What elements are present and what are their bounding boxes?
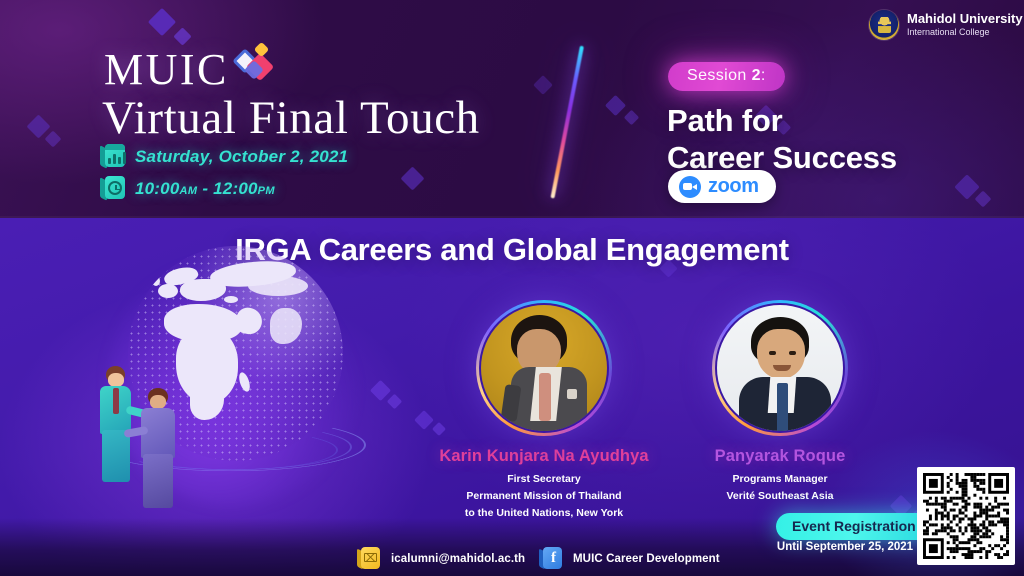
contact-facebook-label: MUIC Career Development bbox=[573, 553, 720, 565]
speaker-role: First Secretary Permanent Mission of Tha… bbox=[408, 471, 680, 522]
facebook-icon: f bbox=[539, 546, 563, 571]
speaker-portrait-avatar bbox=[476, 300, 612, 436]
avatar bbox=[481, 305, 607, 431]
session-colon: : bbox=[761, 67, 766, 84]
university-name: Mahidol University bbox=[907, 12, 1023, 26]
session-topic: Path for Career Success bbox=[667, 103, 897, 176]
email-icon bbox=[357, 546, 381, 571]
mahidol-logo: Mahidol University International College bbox=[869, 10, 1023, 40]
session-label: Session bbox=[687, 67, 747, 84]
clock-icon bbox=[100, 175, 126, 202]
event-poster: MUIC Virtual Final Touch Saturday, Octob… bbox=[0, 0, 1024, 576]
time-start: 10:00 bbox=[135, 179, 179, 198]
speaker-name: Karin Kunjara Na Ayudhya bbox=[408, 447, 680, 466]
page-title-program: Virtual Final Touch bbox=[102, 92, 480, 145]
event-time-row: 10:00AM - 12:00PM bbox=[100, 175, 275, 202]
event-date-row: Saturday, October 2, 2021 bbox=[100, 143, 348, 170]
page-title-muic: MUIC bbox=[104, 48, 229, 92]
contact-email-label: icalumni@mahidol.ac.th bbox=[391, 553, 525, 565]
session-topic-line-1: Path for bbox=[667, 103, 897, 140]
speaker-portrait-avatar bbox=[712, 300, 848, 436]
qr-code-icon[interactable] bbox=[917, 467, 1015, 565]
session-number: 2 bbox=[752, 67, 761, 84]
time-separator: - bbox=[202, 179, 208, 198]
event-date-text: Saturday, October 2, 2021 bbox=[135, 147, 348, 167]
speaker-role-line: Programs Manager bbox=[644, 471, 916, 488]
globe-handshake-illustration bbox=[80, 238, 380, 508]
time-end-suffix: PM bbox=[258, 185, 275, 197]
contact-facebook[interactable]: f MUIC Career Development bbox=[539, 546, 720, 571]
status-badge-session: Session 2: bbox=[668, 62, 785, 91]
contact-email[interactable]: icalumni@mahidol.ac.th bbox=[357, 546, 525, 571]
event-registration-button[interactable]: Event Registration bbox=[776, 513, 932, 540]
speaker-role-line: to the United Nations, New York bbox=[408, 505, 680, 522]
mahidol-seal-icon bbox=[869, 10, 899, 40]
time-start-suffix: AM bbox=[179, 185, 197, 197]
speaker-role-line: First Secretary bbox=[408, 471, 680, 488]
registration-deadline: Until September 25, 2021 bbox=[760, 541, 930, 553]
speaker-role: Programs Manager Verité Southeast Asia bbox=[644, 471, 916, 505]
speaker-card: Karin Kunjara Na Ayudhya First Secretary… bbox=[408, 300, 680, 522]
calendar-icon bbox=[100, 143, 126, 170]
figure-person-left bbox=[98, 366, 138, 486]
muic-diamond-logo-icon bbox=[236, 44, 282, 84]
speaker-card: Panyarak Roque Programs Manager Verité S… bbox=[644, 300, 916, 505]
speaker-name: Panyarak Roque bbox=[644, 447, 916, 466]
speaker-role-line: Verité Southeast Asia bbox=[644, 488, 916, 505]
platform-name: zoom bbox=[708, 175, 759, 198]
speaker-role-line: Permanent Mission of Thailand bbox=[408, 488, 680, 505]
zoom-camera-icon bbox=[679, 176, 701, 198]
platform-zoom-chip[interactable]: zoom bbox=[668, 170, 776, 203]
figure-person-right bbox=[138, 388, 182, 508]
event-time-text: 10:00AM - 12:00PM bbox=[135, 179, 275, 199]
time-end: 12:00 bbox=[213, 179, 257, 198]
avatar bbox=[717, 305, 843, 431]
university-sub: International College bbox=[907, 27, 1023, 38]
